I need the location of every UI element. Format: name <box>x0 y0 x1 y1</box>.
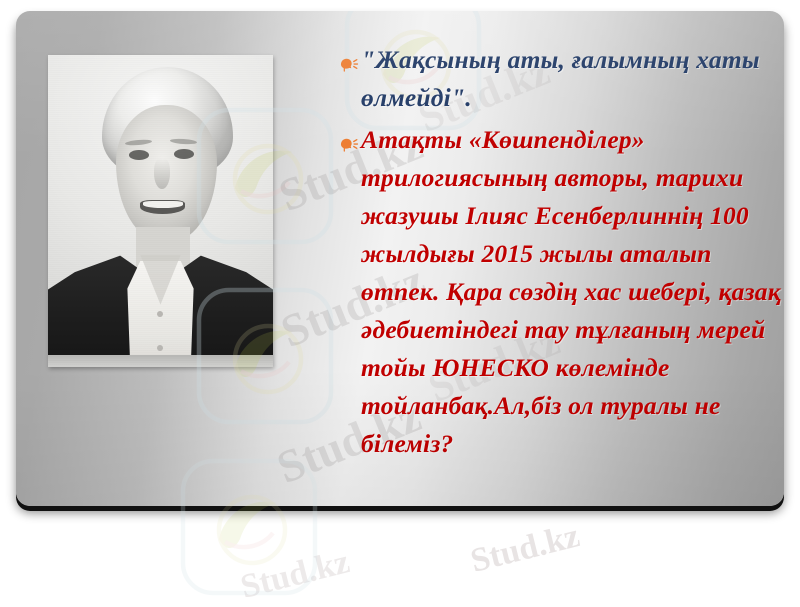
speaking-head-icon <box>338 129 360 159</box>
bullet-text: Атақты «Көшпенділер» трилогиясының автор… <box>361 121 784 463</box>
bullet-item: Атақты «Көшпенділер» трилогиясының автор… <box>338 121 784 463</box>
bullet-item: "Жақсының аты, ғалымның хаты өлмейді". <box>338 41 784 117</box>
portrait-photo-frame <box>48 55 273 367</box>
portrait-grain-overlay <box>48 55 273 367</box>
watermark-text: Stud.kz <box>237 543 353 607</box>
speaking-head-icon <box>338 49 360 79</box>
bullet-text: "Жақсының аты, ғалымның хаты өлмейді". <box>361 41 784 117</box>
presentation-slide: Stud.kz Stud.kz Stud.kz Stud.kz Stud.kz … <box>16 11 784 506</box>
portrait-photo <box>48 55 273 367</box>
slide-text-column: "Жақсының аты, ғалымның хаты өлмейді". А… <box>338 41 784 467</box>
slide-page: Stud.kz Stud.kz Stud.kz Stud.kz Stud.kz … <box>0 0 800 586</box>
watermark-text: Stud.kz <box>467 517 583 581</box>
